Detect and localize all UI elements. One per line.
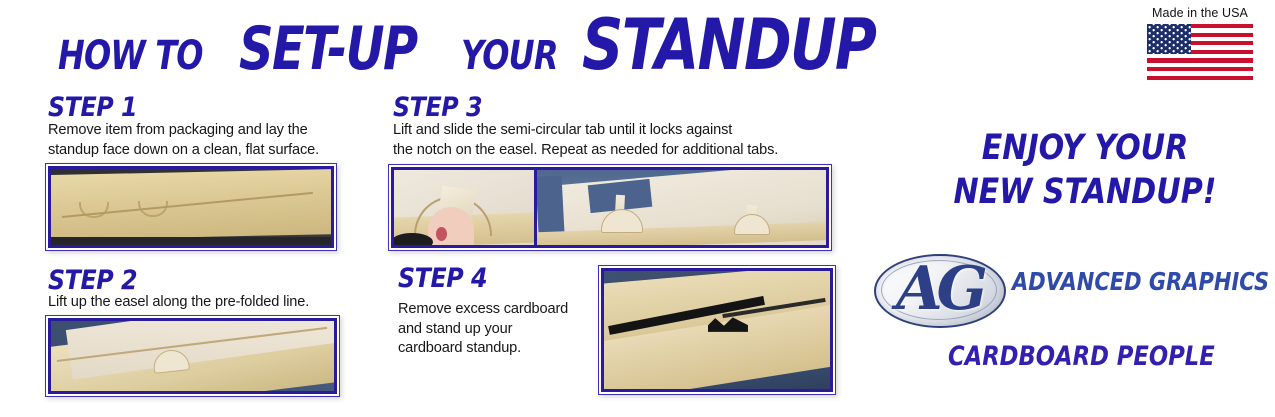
step-2-title: STEP 2 <box>48 265 137 296</box>
made-in-usa-label: Made in the USA <box>1141 6 1259 21</box>
step-3-body: Lift and slide the semi-circular tab unt… <box>393 121 843 160</box>
step-2-photo-frame <box>45 315 340 397</box>
brand-tagline: CARDBOARD PEOPLE <box>948 341 1215 372</box>
page-title-part-2: SET-UP <box>239 12 417 86</box>
step-4-body: Remove excess cardboard and stand up you… <box>398 300 618 359</box>
made-in-usa-badge: Made in the USA <box>1141 6 1259 80</box>
step-1-body: Remove item from packaging and lay the s… <box>48 121 368 160</box>
step-4-photo-frame <box>598 265 836 395</box>
step-1-title: STEP 1 <box>48 92 137 123</box>
brand-name: ADVANCED GRAPHICS <box>1012 267 1269 296</box>
step-1-photo <box>51 169 331 245</box>
logo-letters: AG <box>874 246 1004 332</box>
page-title: HOW TO SET-UP YOUR STANDUP <box>58 8 878 82</box>
step-4-title: STEP 4 <box>398 263 487 294</box>
page-title-part-1: HOW TO <box>58 19 203 93</box>
closing-line-1: ENJOY YOUR <box>930 128 1240 168</box>
closing-line-2: NEW STANDUP! <box>930 172 1240 212</box>
instruction-sheet: HOW TO SET-UP YOUR STANDUP Made in the U… <box>0 0 1275 417</box>
step-4-photo <box>604 271 830 389</box>
step-3-photo-frame <box>388 164 832 251</box>
page-title-part-4: STANDUP <box>582 8 875 82</box>
step-3-photo-b <box>537 170 826 245</box>
us-flag-icon <box>1147 24 1253 80</box>
step-2-photo <box>51 321 334 391</box>
advanced-graphics-logo-icon: AG <box>874 246 1004 332</box>
step-3-title: STEP 3 <box>393 92 482 123</box>
step-3-photo-a <box>394 170 534 245</box>
step-1-photo-frame <box>45 163 337 251</box>
step-2-body: Lift up the easel along the pre-folded l… <box>48 293 368 313</box>
page-title-part-3: YOUR <box>461 19 558 93</box>
